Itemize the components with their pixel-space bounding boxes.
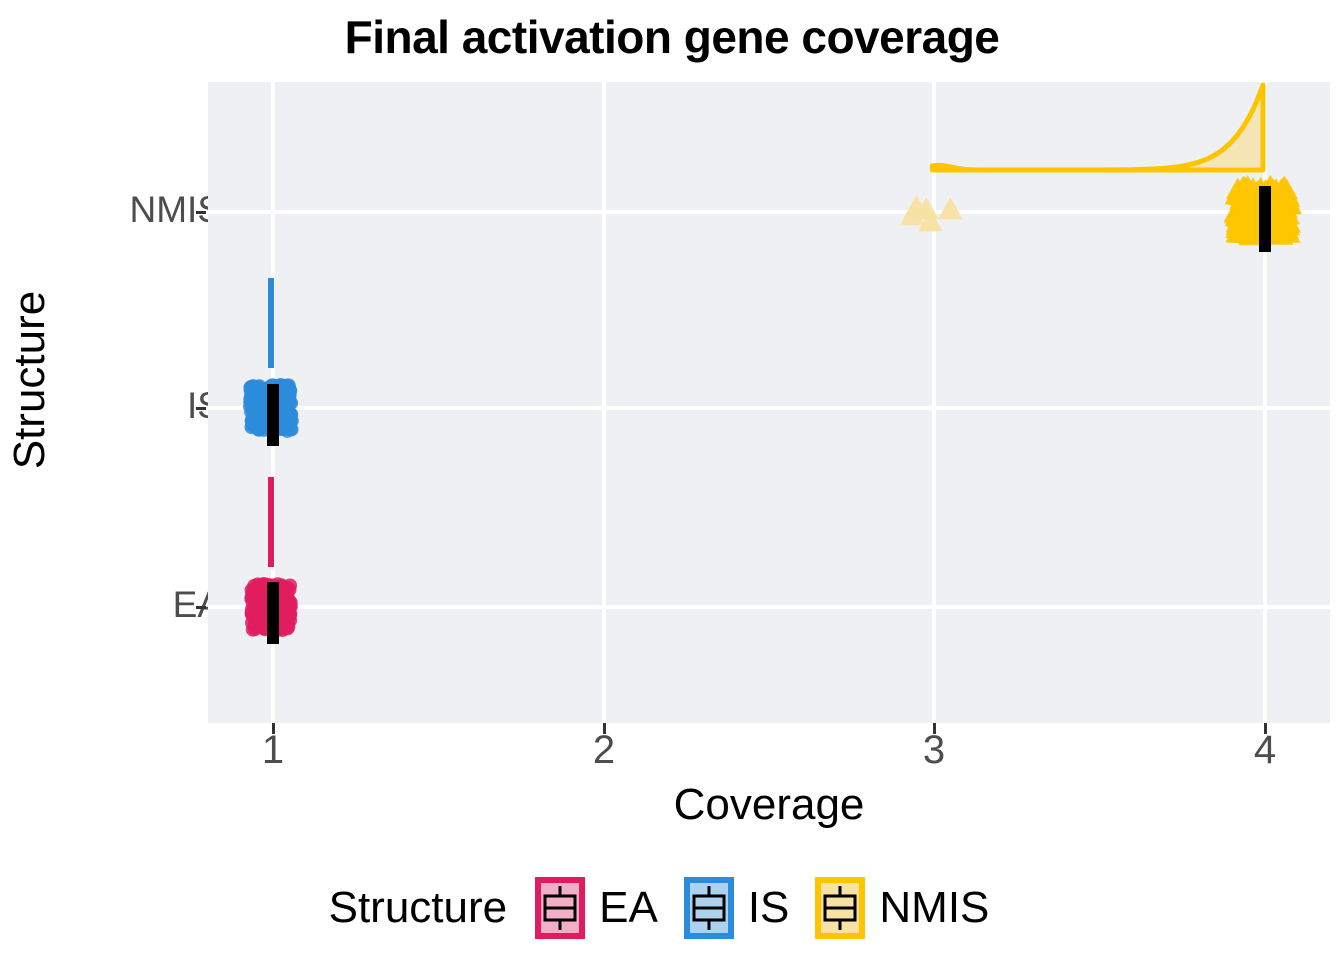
page-title: Final activation gene coverage — [0, 8, 1344, 66]
legend-label-nmis: NMIS — [879, 883, 989, 933]
legend-label-ea: EA — [599, 883, 658, 933]
legend-key-ea — [535, 877, 585, 939]
boxplot-glyph-icon — [821, 883, 859, 933]
median-marker-is — [267, 384, 279, 446]
x-tick-label-4: 4 — [1205, 728, 1325, 773]
y-tick-mark-ea — [196, 606, 206, 609]
median-marker-ea — [267, 582, 279, 644]
y-tick-mark-is — [196, 407, 206, 410]
y-tick-label-nmis: NMIS — [52, 189, 222, 231]
legend-item-ea[interactable]: EA — [535, 877, 658, 939]
legend-item-is[interactable]: IS — [684, 877, 790, 939]
y-tick-label-is: IS — [52, 385, 222, 427]
legend-label-is: IS — [748, 883, 790, 933]
legend-key-is — [684, 877, 734, 939]
boxplot-glyph-icon — [541, 883, 579, 933]
y-tick-mark-nmis — [196, 211, 206, 214]
chart-figure: Final activation gene coverage Structure… — [0, 0, 1344, 960]
y-tick-label-ea: EA — [52, 584, 222, 626]
legend-title: Structure — [329, 883, 508, 933]
plot-panel — [208, 82, 1330, 723]
x-tick-label-2: 2 — [544, 728, 664, 773]
x-tick-label-3: 3 — [874, 728, 994, 773]
x-tick-label-1: 1 — [213, 728, 333, 773]
boxplot-glyph-icon — [690, 883, 728, 933]
x-axis-title: Coverage — [208, 780, 1330, 830]
median-marker-nmis — [1259, 186, 1271, 252]
legend-item-nmis[interactable]: NMIS — [815, 877, 989, 939]
jitter-points-layer — [208, 82, 1330, 723]
legend-key-nmis — [815, 877, 865, 939]
y-axis-title: Structure — [5, 170, 55, 590]
legend: Structure EA IS — [0, 868, 1344, 948]
